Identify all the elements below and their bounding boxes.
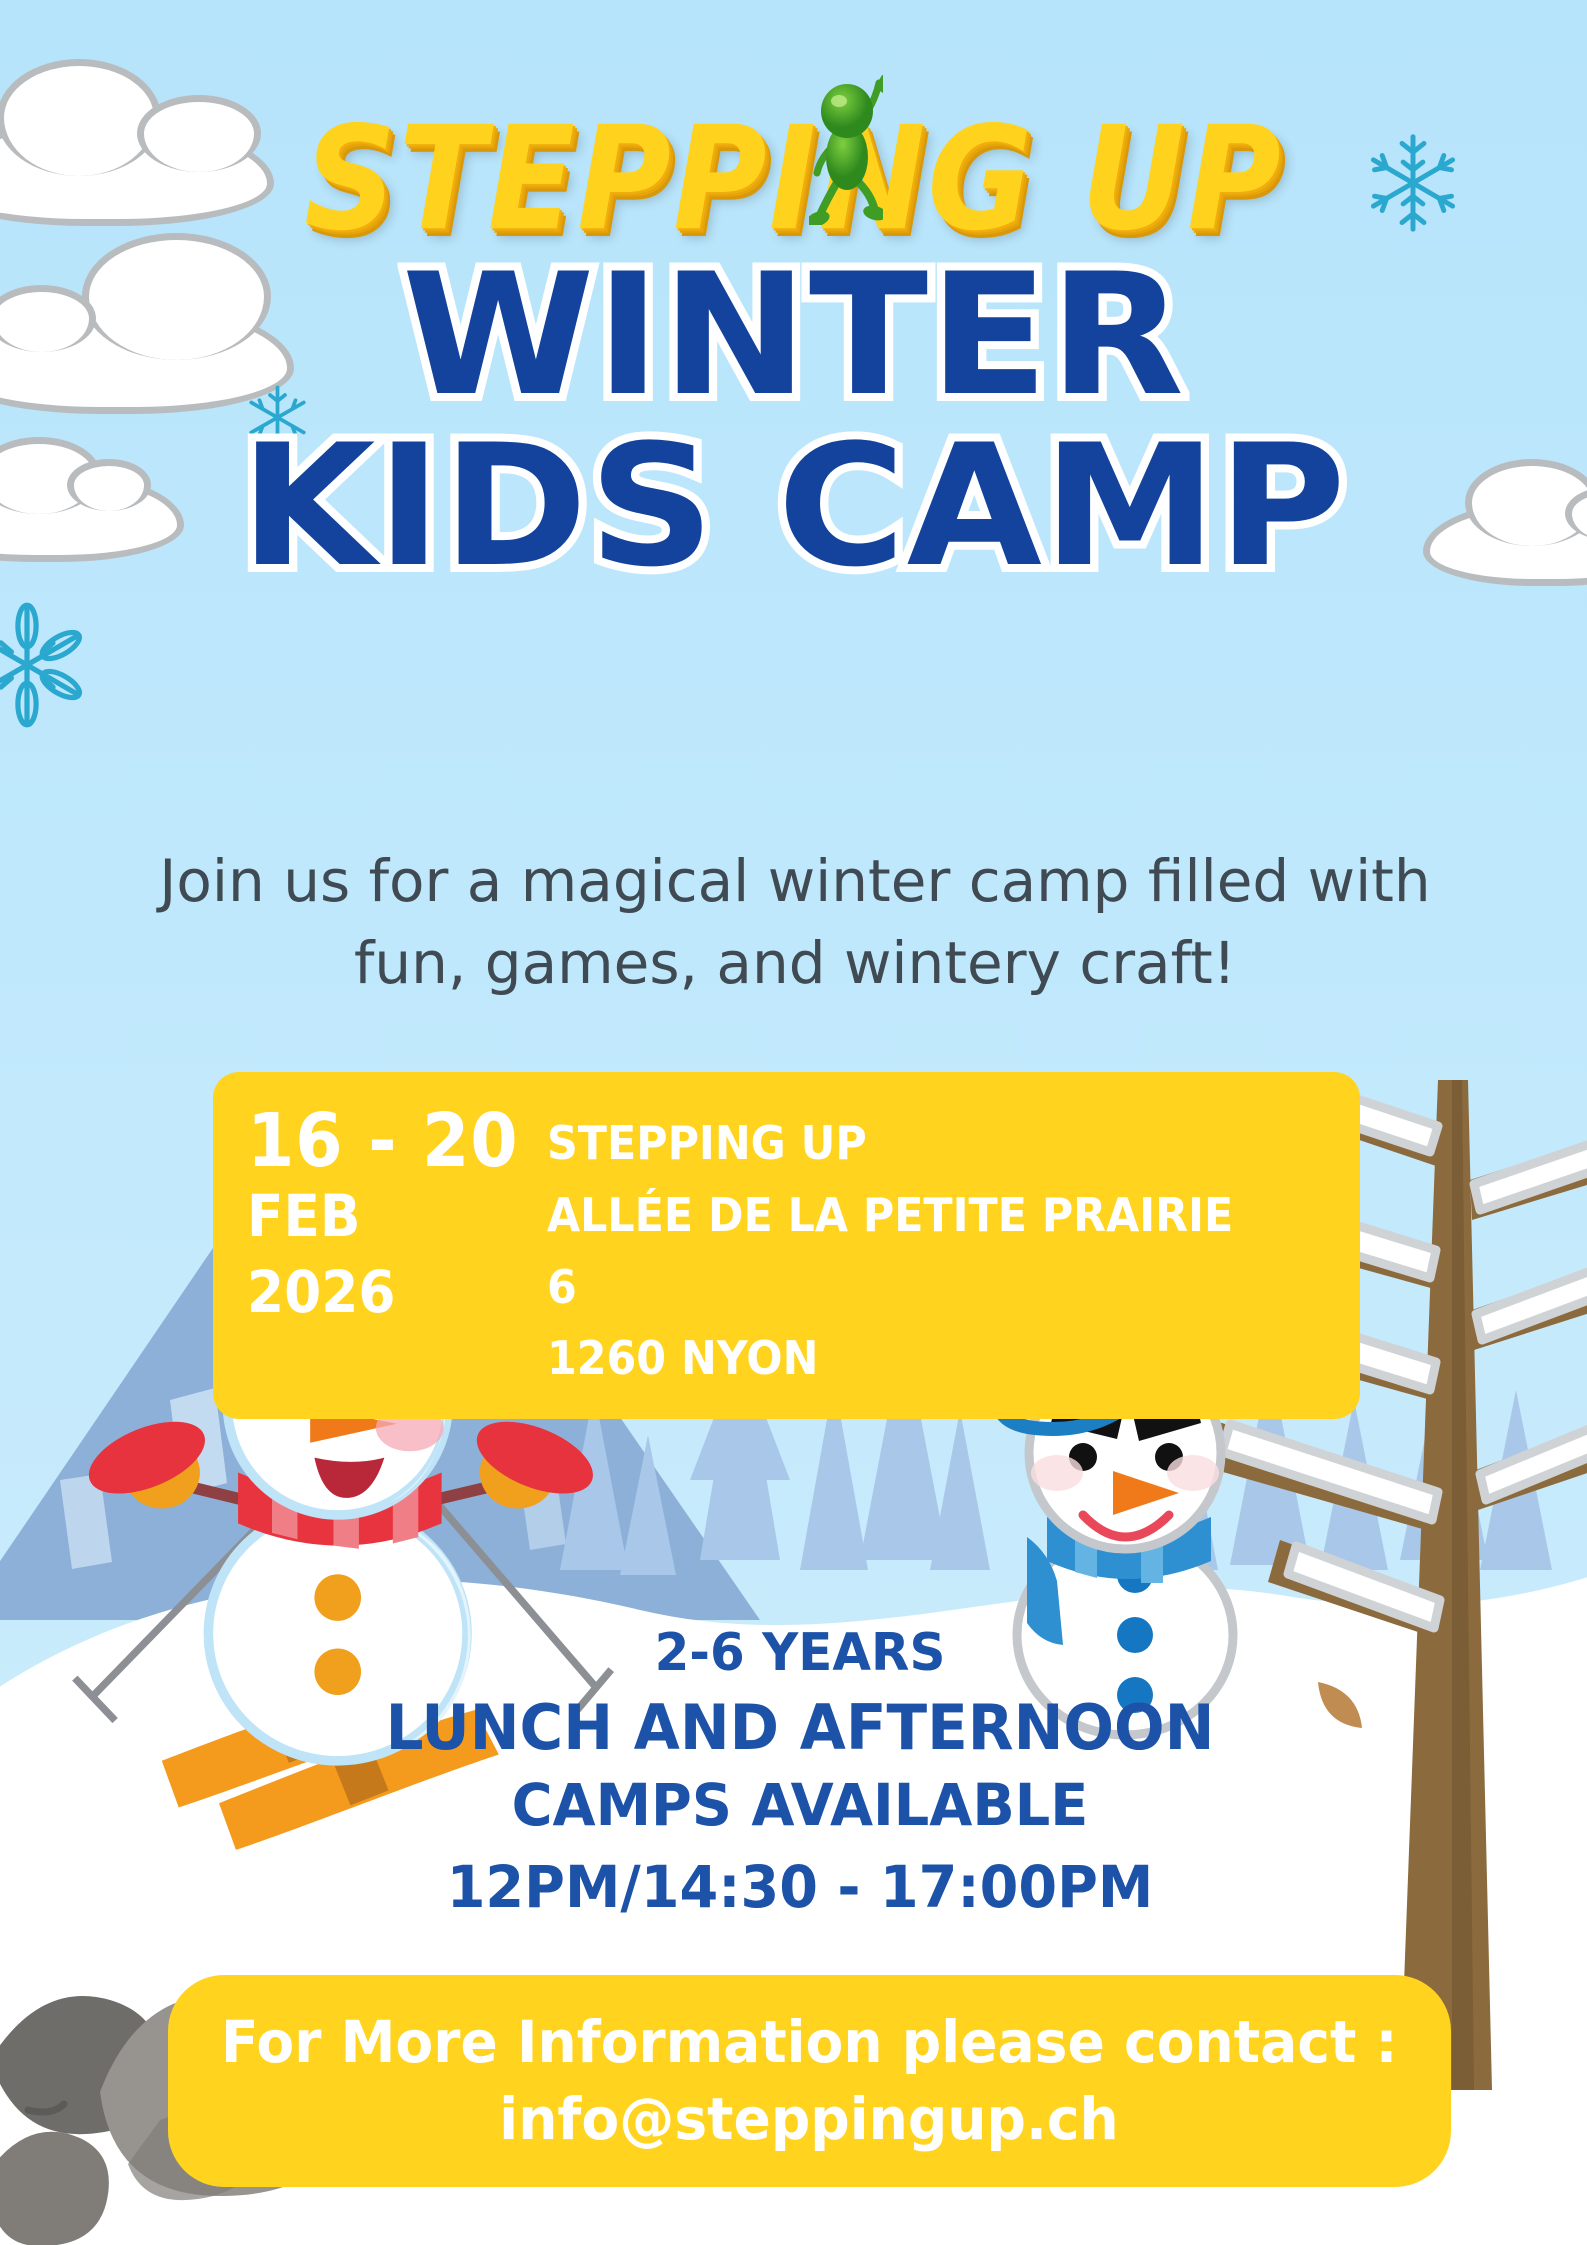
contact-prompt: For More Information please contact :: [221, 2004, 1398, 2081]
camp-times: 12PM/14:30 - 17:00PM: [320, 1850, 1280, 1925]
event-date-range: 16 - 20: [247, 1104, 523, 1179]
green-pea-mascot-icon: [809, 75, 883, 225]
page-title: WINTER KIDS CAMP: [0, 250, 1587, 593]
event-date-block: 16 - 20 FEB 2026: [247, 1098, 547, 1330]
venue-name: STEPPING UP: [547, 1108, 1271, 1180]
venue-city: 1260 NYON: [547, 1323, 1271, 1395]
snowflake-icon: [0, 600, 92, 730]
offer-line-2: CAMPS AVAILABLE: [320, 1768, 1280, 1843]
contact-banner: For More Information please contact : in…: [168, 1975, 1451, 2187]
winter-kids-camp-poster: STEPPING UP WINTE: [0, 0, 1587, 2245]
offer-line-1: LUNCH AND AFTERNOON: [320, 1688, 1280, 1769]
venue-street: ALLÉE DE LA PETITE PRAIRIE 6: [547, 1180, 1271, 1324]
camp-details-block: 2-6 YEARS LUNCH AND AFTERNOON CAMPS AVAI…: [300, 1620, 1300, 1925]
title-line-1: WINTER: [0, 250, 1587, 421]
event-info-banner: 16 - 20 FEB 2026 STEPPING UP ALLÉE DE LA…: [213, 1072, 1360, 1419]
lead-paragraph: Join us for a magical winter camp filled…: [150, 840, 1440, 1005]
contact-email[interactable]: info@steppingup.ch: [500, 2081, 1119, 2158]
event-address-block: STEPPING UP ALLÉE DE LA PETITE PRAIRIE 6…: [547, 1098, 1271, 1395]
lead-line-2: fun, games, and wintery craft!: [150, 922, 1440, 1004]
age-range: 2-6 YEARS: [320, 1620, 1280, 1688]
event-month-year: FEB 2026: [247, 1179, 523, 1330]
title-line-2: KIDS CAMP: [0, 421, 1587, 592]
lead-line-1: Join us for a magical winter camp filled…: [150, 840, 1440, 922]
